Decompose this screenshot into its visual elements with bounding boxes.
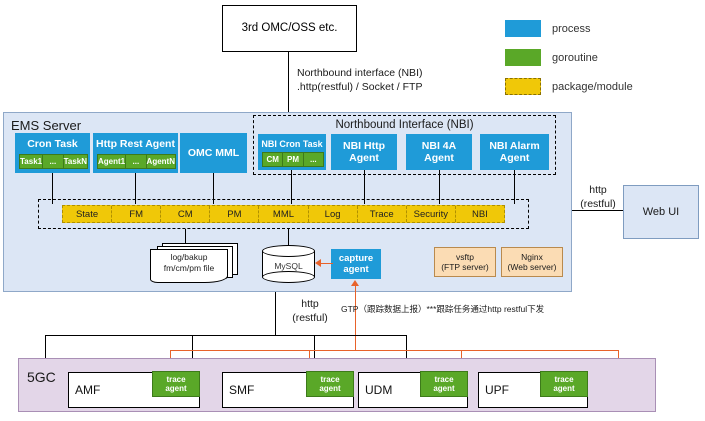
process-cron-task[interactable]: Cron Task Task1 ... TaskN bbox=[15, 133, 90, 173]
process-nbi-cron-task[interactable]: NBI Cron Task CM PM ... bbox=[258, 134, 326, 170]
nbi-interface-annotation: Northbound interface (NBI) .http(restful… bbox=[297, 66, 507, 94]
web-ui-box[interactable]: Web UI bbox=[623, 185, 699, 239]
server-vsftp-line1: vsftp bbox=[456, 252, 474, 262]
ems-to-5gc-vertical bbox=[275, 292, 276, 335]
nbi-annotation-line1: Northbound interface (NBI) bbox=[297, 66, 507, 80]
omc-to-nbi-connector bbox=[288, 52, 289, 112]
trace-agent-amf[interactable]: trace agent bbox=[152, 371, 200, 397]
trace-agent-smf-line2: agent bbox=[319, 384, 340, 393]
nf-upf-label: UPF bbox=[485, 383, 509, 397]
third-party-omc-box: 3rd OMC/OSS etc. bbox=[222, 5, 357, 52]
trace-agent-smf-line1: trace bbox=[320, 375, 339, 384]
goroutine-row-http-rest-agent: Agent1 ... AgentN bbox=[97, 154, 176, 169]
process-omc-mml-title: OMC MML bbox=[188, 147, 239, 159]
process-nbi-4a-agent[interactable]: NBI 4A Agent bbox=[406, 134, 472, 170]
goroutine-task1[interactable]: Task1 bbox=[20, 155, 43, 168]
process-nbi-alarm-agent-title: NBI Alarm Agent bbox=[481, 140, 548, 164]
legend-item-goroutine: goroutine bbox=[505, 49, 695, 66]
goroutine-agent1[interactable]: Agent1 bbox=[98, 155, 126, 168]
goroutine-row-nbi-cron-task: CM PM ... bbox=[262, 152, 324, 167]
trace-agent-upf[interactable]: trace agent bbox=[540, 371, 588, 397]
capture-agent-line1: capture bbox=[339, 253, 373, 264]
process-nbi-http-agent[interactable]: NBI Http Agent bbox=[331, 134, 397, 170]
module-nbi[interactable]: NBI bbox=[456, 206, 504, 222]
process-http-rest-agent-title: Http Rest Agent bbox=[94, 138, 177, 150]
trace-agent-amf-line2: agent bbox=[165, 384, 186, 393]
server-nginx-line1: Nginx bbox=[521, 252, 543, 262]
process-capture-agent[interactable]: capture agent bbox=[331, 249, 381, 279]
goroutine-agentn[interactable]: AgentN bbox=[147, 155, 175, 168]
nf-amf-label: AMF bbox=[75, 383, 100, 397]
legend-swatch-goroutine bbox=[505, 49, 541, 66]
trace-agent-amf-line1: trace bbox=[166, 375, 185, 384]
module-pm[interactable]: PM bbox=[210, 206, 259, 222]
file-stack-label-line2: fm/cm/pm file bbox=[150, 263, 228, 274]
capture-agent-to-db-arrowhead bbox=[315, 259, 321, 267]
webui-link-line1: http bbox=[570, 183, 626, 197]
trace-agent-udm-line1: trace bbox=[434, 375, 453, 384]
server-vsftp[interactable]: vsftp (FTP server) bbox=[434, 247, 496, 277]
ems-to-5gc-line2: (restful) bbox=[282, 311, 338, 325]
connector-modules-to-database bbox=[288, 229, 289, 245]
process-http-rest-agent[interactable]: Http Rest Agent Agent1 ... AgentN bbox=[93, 133, 178, 173]
trace-agent-smf[interactable]: trace agent bbox=[306, 371, 354, 397]
legend-item-process: process bbox=[505, 20, 695, 37]
ems-to-5gc-line1: http bbox=[282, 297, 338, 311]
legend-swatch-process bbox=[505, 20, 541, 37]
goroutine-row-cron-task: Task1 ... TaskN bbox=[19, 154, 88, 169]
legend-item-package: package/module bbox=[505, 78, 695, 95]
module-state[interactable]: State bbox=[63, 206, 112, 222]
nbi-group-title: Northbound Interface (NBI) bbox=[254, 119, 555, 131]
module-security[interactable]: Security bbox=[407, 206, 456, 222]
legend-label-goroutine: goroutine bbox=[552, 52, 598, 64]
process-nbi-alarm-agent[interactable]: NBI Alarm Agent bbox=[480, 134, 549, 170]
gtp-note: GTP（跟踪数据上报）***跟踪任务通过http restful下发 bbox=[341, 303, 671, 315]
nf-bus-horizontal bbox=[45, 335, 407, 336]
nbi-annotation-line2: .http(restful) / Socket / FTP bbox=[297, 80, 507, 94]
module-bar: State FM CM PM MML Log Trace Security NB… bbox=[62, 205, 505, 223]
process-nbi-4a-agent-title: NBI 4A Agent bbox=[407, 140, 471, 164]
goroutine-taskn[interactable]: TaskN bbox=[64, 155, 87, 168]
module-log[interactable]: Log bbox=[309, 206, 358, 222]
file-stack-label: log/bakup fm/cm/pm file bbox=[150, 252, 228, 275]
trace-agent-upf-line2: agent bbox=[553, 384, 574, 393]
trace-data-to-capture-agent-arrowhead bbox=[351, 280, 359, 286]
module-trace[interactable]: Trace bbox=[358, 206, 407, 222]
ems-server-title: EMS Server bbox=[11, 118, 81, 133]
database-cylinder-bottom bbox=[262, 271, 315, 283]
ems-to-5gc-annotation: http (restful) bbox=[282, 297, 338, 325]
process-nbi-http-agent-title: NBI Http Agent bbox=[332, 140, 396, 164]
trace-agent-upf-line1: trace bbox=[554, 375, 573, 384]
module-fm[interactable]: FM bbox=[112, 206, 161, 222]
nf-udm-label: UDM bbox=[365, 383, 392, 397]
legend-swatch-package bbox=[505, 78, 541, 95]
goroutine-pm[interactable]: PM bbox=[283, 153, 303, 166]
module-cm[interactable]: CM bbox=[161, 206, 210, 222]
file-shape-front-wave bbox=[150, 276, 228, 283]
server-nginx-line2: (Web server) bbox=[508, 262, 557, 272]
trace-agent-udm[interactable]: trace agent bbox=[420, 371, 468, 397]
nf-smf-label: SMF bbox=[229, 383, 254, 397]
database-cylinder-top bbox=[262, 245, 315, 257]
log-backup-file-stack: log/bakup fm/cm/pm file bbox=[150, 243, 242, 283]
web-ui-label: Web UI bbox=[643, 206, 679, 219]
process-omc-mml[interactable]: OMC MML bbox=[180, 133, 247, 173]
module-mml[interactable]: MML bbox=[259, 206, 308, 222]
database-mysql: MySQL bbox=[262, 245, 315, 283]
goroutine-cm[interactable]: CM bbox=[263, 153, 283, 166]
capture-agent-line2: agent bbox=[343, 264, 368, 275]
trace-data-to-capture-agent-line bbox=[355, 285, 356, 350]
server-nginx[interactable]: Nginx (Web server) bbox=[501, 247, 563, 277]
fivegc-title: 5GC bbox=[27, 369, 56, 385]
server-vsftp-line2: (FTP server) bbox=[441, 262, 489, 272]
trace-agent-udm-line2: agent bbox=[433, 384, 454, 393]
process-cron-task-title: Cron Task bbox=[16, 138, 89, 150]
capture-agent-to-db-line bbox=[321, 263, 333, 264]
diagram-canvas: 3rd OMC/OSS etc. Northbound interface (N… bbox=[0, 0, 705, 421]
file-stack-label-line1: log/bakup bbox=[150, 252, 228, 263]
trace-bus-horizontal bbox=[170, 350, 618, 351]
goroutine-ellipsis[interactable]: ... bbox=[126, 155, 146, 168]
process-nbi-cron-task-title: NBI Cron Task bbox=[259, 139, 325, 149]
legend: process goroutine package/module bbox=[505, 20, 695, 95]
legend-label-package: package/module bbox=[552, 81, 633, 93]
webui-link-line2: (restful) bbox=[570, 197, 626, 211]
webui-link-annotation: http (restful) bbox=[570, 183, 626, 211]
database-label: MySQL bbox=[262, 261, 315, 271]
goroutine-ellipsis[interactable]: ... bbox=[304, 153, 323, 166]
goroutine-ellipsis[interactable]: ... bbox=[43, 155, 63, 168]
third-party-omc-label: 3rd OMC/OSS etc. bbox=[242, 22, 338, 35]
legend-label-process: process bbox=[552, 23, 591, 35]
